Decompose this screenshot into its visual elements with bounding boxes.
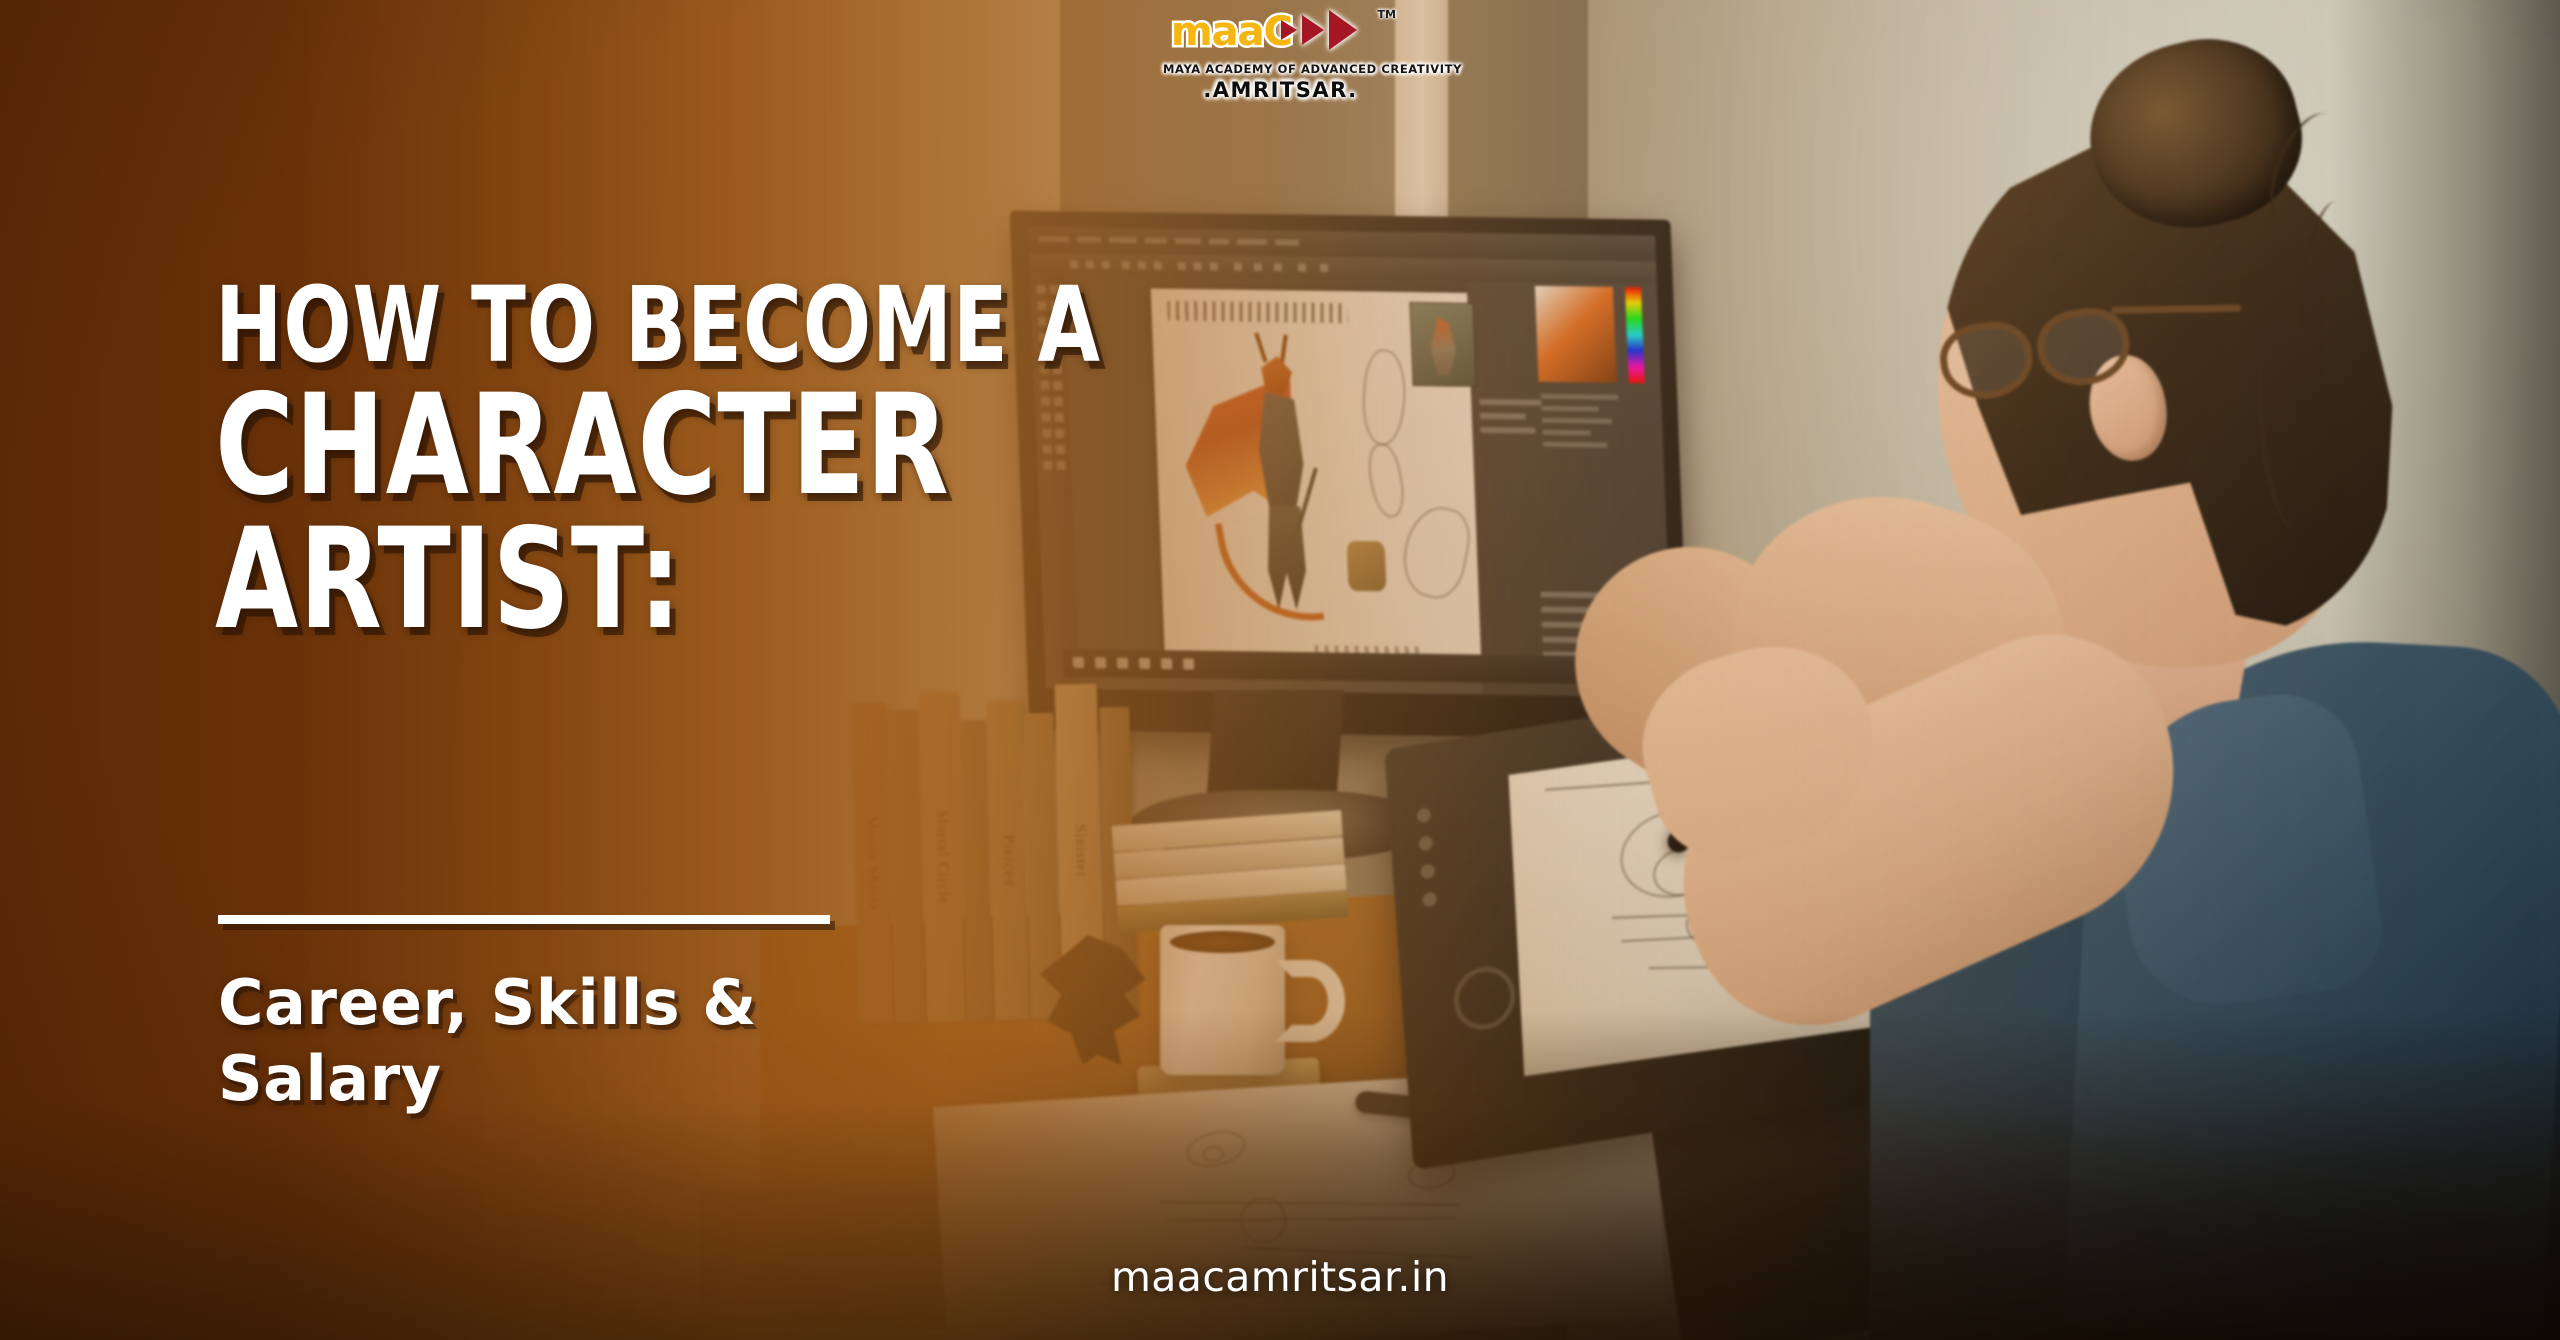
maac-city-label: .AMRITSAR. (1163, 78, 1398, 102)
maac-logo-mark: maaC maaC TM (1163, 8, 1398, 60)
headline-block: HOW TO BECOME A CHARACTER ARTIST: (215, 280, 1275, 640)
headline-line-2: CHARACTER (215, 384, 1127, 506)
headline-line-3: ARTIST: (215, 518, 1127, 640)
maac-tagline: MAYA ACADEMY OF ADVANCED CREATIVITY (1163, 62, 1398, 76)
maac-wordmark: maaC (1171, 10, 1292, 54)
chevron-icon (1302, 15, 1324, 45)
headline-line-1: HOW TO BECOME A (215, 280, 1127, 372)
promotional-banner: Mount Shasta Mortal Circle Pierced Sinis… (0, 0, 2560, 1340)
headline-divider (218, 915, 830, 924)
chevron-icon (1329, 10, 1357, 50)
subheadline-line-2: Salary (218, 1041, 978, 1117)
subheadline-block: Career, Skills & Salary (218, 965, 978, 1116)
subheadline-line-1: Career, Skills & (218, 965, 978, 1041)
banner-content: maaC maaC TM MAYA ACADEMY OF ADVANCED CR… (0, 0, 2560, 1340)
trademark-symbol: TM (1378, 8, 1396, 21)
maac-logo[interactable]: maaC maaC TM MAYA ACADEMY OF ADVANCED CR… (1163, 8, 1398, 103)
website-url[interactable]: maacamritsar.in (0, 1253, 2560, 1301)
